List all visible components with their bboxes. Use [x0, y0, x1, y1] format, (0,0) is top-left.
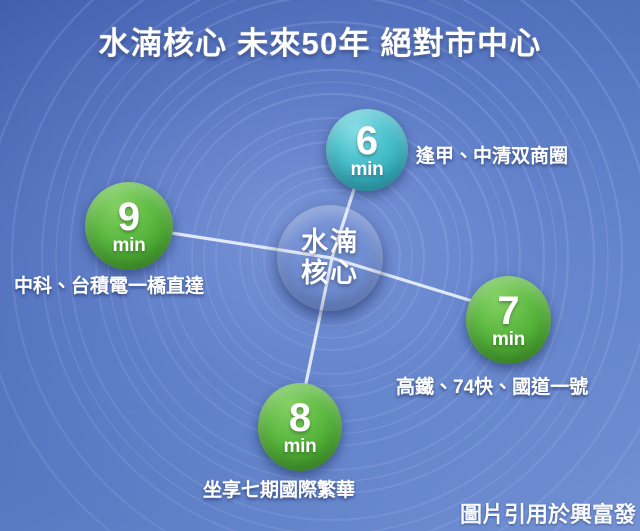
- node-6min-unit: min: [351, 160, 384, 179]
- node-9min-unit: min: [113, 236, 146, 255]
- infographic-canvas: 水湳核心 未來50年 絕對市中心 6 min 逢甲、中清双商圈 9 min 中科…: [0, 0, 640, 531]
- caption-9min: 中科、台積電一橋直達: [14, 271, 204, 298]
- center-node-line2: 核心: [301, 258, 359, 289]
- caption-8min: 坐享七期國際繁華: [203, 475, 355, 502]
- page-title: 水湳核心 未來50年 絕對市中心: [0, 18, 640, 63]
- node-8min-unit: min: [284, 437, 317, 456]
- node-6min[interactable]: 6 min: [326, 109, 408, 191]
- center-node-line1: 水湳: [301, 227, 359, 258]
- node-8min[interactable]: 8 min: [258, 383, 342, 471]
- node-6min-number: 6: [356, 121, 378, 161]
- node-9min-number: 9: [118, 197, 140, 237]
- caption-6min: 逢甲、中清双商圈: [416, 141, 568, 168]
- caption-7min: 高鐵、74快、國道一號: [396, 372, 588, 399]
- node-8min-number: 8: [289, 398, 311, 438]
- image-credit-watermark: 圖片引用於興富發: [460, 497, 636, 529]
- node-9min[interactable]: 9 min: [85, 182, 173, 270]
- node-7min[interactable]: 7 min: [466, 276, 551, 364]
- center-node-core[interactable]: 水湳 核心: [277, 205, 383, 311]
- node-7min-number: 7: [497, 291, 519, 331]
- node-7min-unit: min: [492, 330, 525, 349]
